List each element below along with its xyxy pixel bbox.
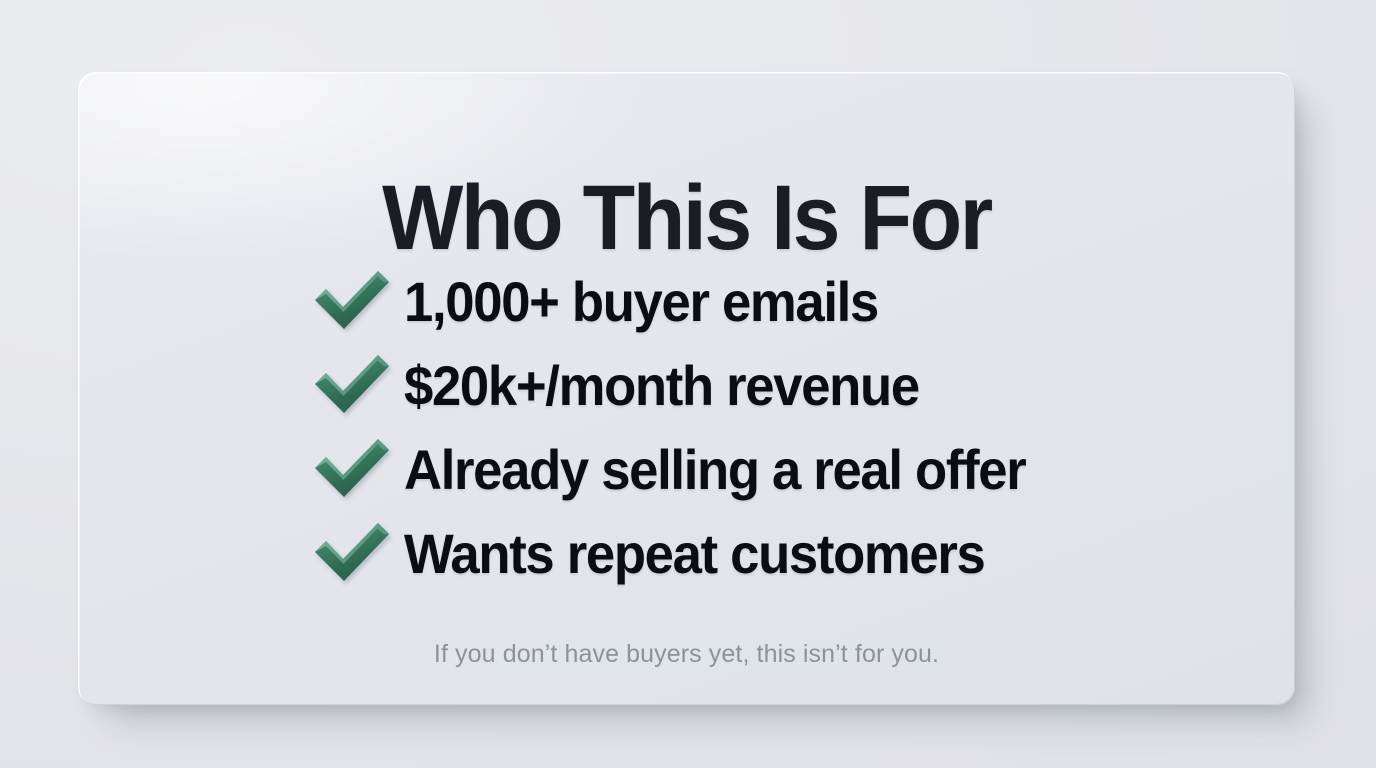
list-item: $20k+/month revenue — [300, 344, 1160, 428]
list-item-label: $20k+/month revenue — [404, 358, 919, 414]
check-icon — [300, 519, 404, 589]
list-item: Wants repeat customers — [300, 512, 1160, 596]
footer-note: If you don’t have buyers yet, this isn’t… — [78, 640, 1295, 669]
page-title: Who This Is For — [118, 172, 1256, 264]
slide-canvas: Who This Is For — [0, 0, 1376, 768]
list-item: 1,000+ buyer emails — [300, 260, 1160, 344]
list-item-label: Already selling a real offer — [404, 442, 1025, 498]
check-icon — [300, 267, 404, 337]
content-card: Who This Is For — [78, 72, 1295, 705]
feature-list: 1,000+ buyer emails $20k+/month revenue — [300, 260, 1160, 596]
list-item: Already selling a real offer — [300, 428, 1160, 512]
list-item-label: Wants repeat customers — [404, 526, 985, 582]
list-item-label: 1,000+ buyer emails — [404, 274, 878, 330]
check-icon — [300, 435, 404, 505]
check-icon — [300, 351, 404, 421]
